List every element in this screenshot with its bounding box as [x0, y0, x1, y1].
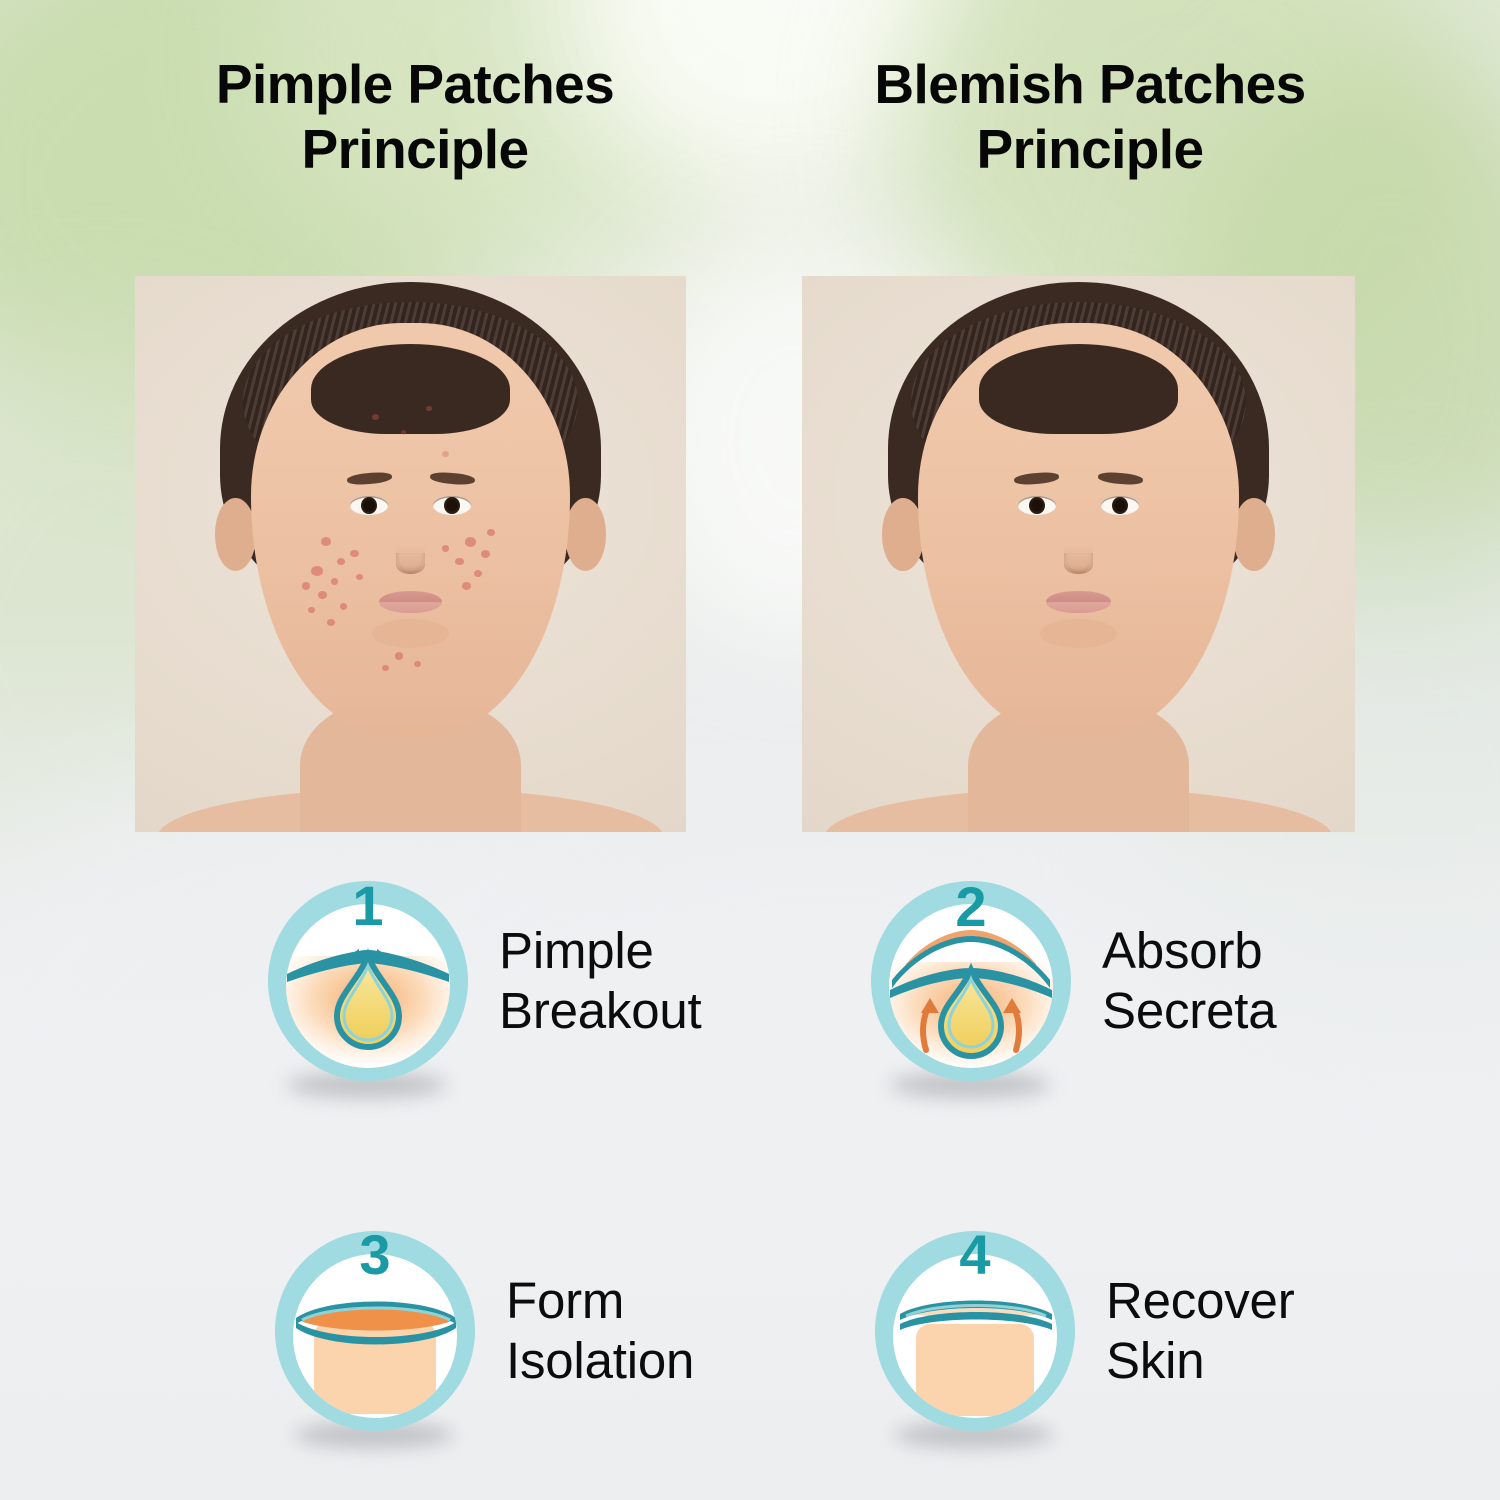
iris [1112, 497, 1128, 515]
eyebrow-right [1097, 471, 1143, 486]
eyebrow-left [1014, 471, 1060, 486]
head [918, 323, 1239, 734]
step-label: AbsorbSecreta [1102, 921, 1276, 1040]
face-illustration-acne [135, 276, 686, 832]
absorb-secreta-icon: 2 [868, 878, 1074, 1084]
step-label: RecoverSkin [1106, 1271, 1295, 1390]
step-label: FormIsolation [506, 1271, 694, 1390]
step-item-3[interactable]: 3 FormIsolation [272, 1228, 694, 1434]
eye-left [1018, 496, 1056, 515]
headings-row: Pimple PatchesPrinciple Blemish PatchesP… [0, 0, 1500, 260]
ear-right [565, 498, 606, 570]
step-item-2[interactable]: 2 AbsorbSecreta [868, 878, 1276, 1084]
step-number: 3 [359, 1228, 390, 1286]
step-label: PimpleBreakout [499, 921, 702, 1040]
pimple-breakout-icon: 1 [265, 878, 471, 1084]
step-number: 1 [352, 878, 383, 937]
icon-slot: 1 [265, 878, 471, 1084]
step-number: 4 [959, 1228, 990, 1286]
chin-shadow [1040, 619, 1117, 648]
step-number: 2 [955, 878, 986, 938]
head [251, 323, 571, 734]
after-photo [802, 276, 1355, 832]
icon-slot: 2 [868, 878, 1074, 1084]
iris [1029, 497, 1045, 515]
nose [1064, 521, 1093, 574]
before-photo [135, 276, 686, 832]
recover-skin-icon: 4 [872, 1228, 1078, 1434]
ear-right [1233, 498, 1274, 570]
steps-grid: 1 PimpleBreakout [0, 860, 1500, 1480]
left-column-title: Pimple PatchesPrinciple [115, 52, 715, 182]
hairline [979, 344, 1178, 435]
lips [1046, 591, 1110, 613]
step-item-4[interactable]: 4 RecoverSkin [872, 1228, 1295, 1434]
eye-right [1101, 496, 1139, 515]
nostrils [1064, 553, 1093, 574]
icon-slot: 4 [872, 1228, 1078, 1434]
right-column-title: Blemish PatchesPrinciple [795, 52, 1385, 182]
face-illustration-clear [802, 276, 1355, 832]
step-item-1[interactable]: 1 PimpleBreakout [265, 878, 702, 1084]
acne-spots [251, 323, 571, 734]
icon-slot: 3 [272, 1228, 478, 1434]
form-isolation-icon: 3 [272, 1228, 478, 1434]
